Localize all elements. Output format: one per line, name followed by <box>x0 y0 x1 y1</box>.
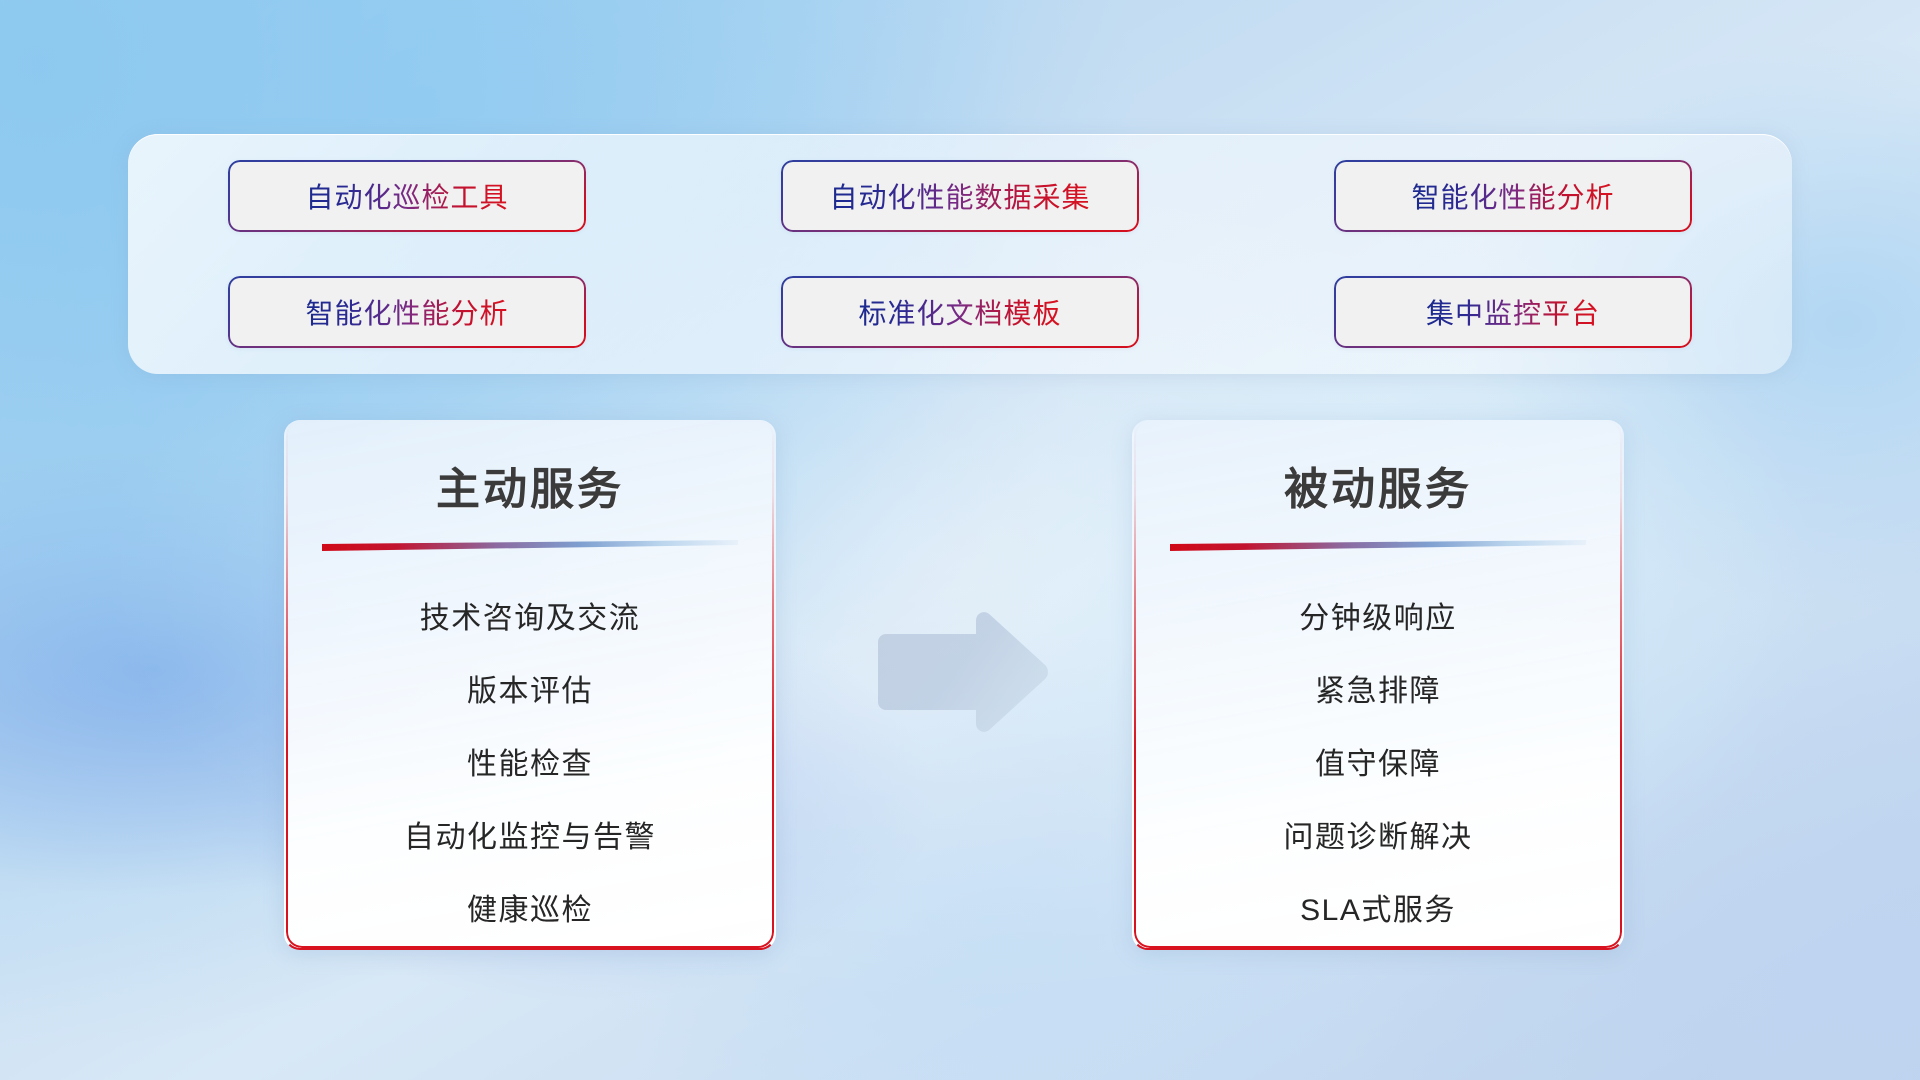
card-title-proactive: 主动服务 <box>316 466 744 514</box>
capability-pill-automated-inspection-tool[interactable]: 自动化巡检工具 <box>228 160 586 232</box>
slide-canvas: 自动化巡检工具 自动化性能数据采集 智能化性能分析 智能化性能分析 标准化文档模… <box>0 0 1920 1080</box>
list-item: 分钟级响应 <box>1164 582 1592 655</box>
card-divider-reactive <box>1170 540 1586 552</box>
list-item: 版本评估 <box>316 655 744 728</box>
card-divider-proactive <box>322 540 738 552</box>
service-list-reactive: 分钟级响应 紧急排障 值守保障 问题诊断解决 SLA式服务 <box>1164 582 1592 947</box>
list-item: 问题诊断解决 <box>1164 801 1592 874</box>
capability-pill-label: 自动化巡检工具 <box>305 176 508 216</box>
capability-panel: 自动化巡检工具 自动化性能数据采集 智能化性能分析 智能化性能分析 标准化文档模… <box>128 134 1792 374</box>
capability-row-2: 智能化性能分析 标准化文档模板 集中监控平台 <box>228 276 1692 348</box>
capability-pill-label: 集中监控平台 <box>1426 292 1600 332</box>
list-item: 健康巡检 <box>316 874 744 947</box>
list-item: 自动化监控与告警 <box>316 801 744 874</box>
service-card-proactive: 主动服务 技术咨询及交流 版本评估 性能检查 <box>284 420 776 950</box>
list-item: SLA式服务 <box>1164 874 1592 947</box>
capability-pill-automated-performance-data-collection[interactable]: 自动化性能数据采集 <box>781 160 1139 232</box>
list-item: 紧急排障 <box>1164 655 1592 728</box>
capability-row-1: 自动化巡检工具 自动化性能数据采集 智能化性能分析 <box>228 160 1692 232</box>
arrow-right-icon <box>872 612 1052 732</box>
service-card-reactive: 被动服务 分钟级响应 紧急排障 值守保障 <box>1132 420 1624 950</box>
list-item: 技术咨询及交流 <box>316 582 744 655</box>
capability-pill-label: 智能化性能分析 <box>1411 176 1614 216</box>
list-item: 性能检查 <box>316 728 744 801</box>
capability-pill-centralized-monitoring-platform[interactable]: 集中监控平台 <box>1334 276 1692 348</box>
capability-pill-standardized-document-template[interactable]: 标准化文档模板 <box>781 276 1139 348</box>
card-title-reactive: 被动服务 <box>1164 466 1592 514</box>
service-list-proactive: 技术咨询及交流 版本评估 性能检查 自动化监控与告警 健康巡检 <box>316 582 744 947</box>
capability-pill-label: 自动化性能数据采集 <box>829 176 1090 216</box>
list-item: 值守保障 <box>1164 728 1592 801</box>
capability-pill-label: 智能化性能分析 <box>305 292 508 332</box>
capability-pill-intelligent-performance-analysis-bottom[interactable]: 智能化性能分析 <box>228 276 586 348</box>
capability-pill-intelligent-performance-analysis-top[interactable]: 智能化性能分析 <box>1334 160 1692 232</box>
capability-pill-label: 标准化文档模板 <box>858 292 1061 332</box>
